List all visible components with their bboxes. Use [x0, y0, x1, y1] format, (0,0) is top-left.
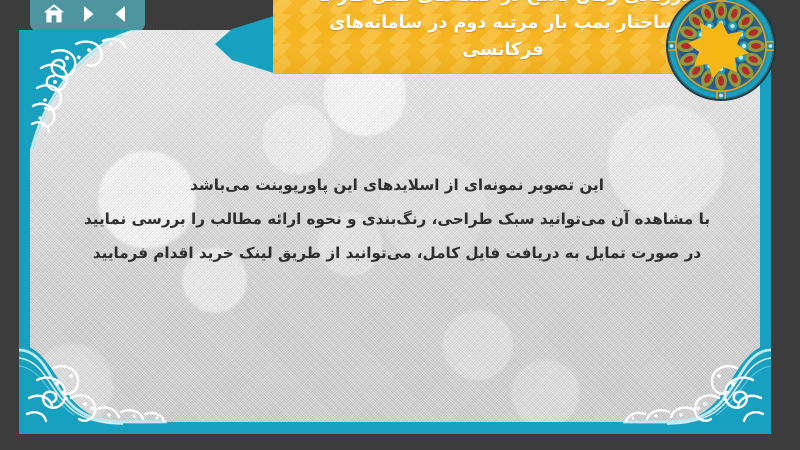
body-line-1: این تصویر نمونه‌ای از اسلایدهای این پاور…: [45, 168, 749, 202]
slide-navigation-bar: [30, 0, 145, 32]
arabesque-corner-bottom-left: [19, 336, 167, 434]
page-title: ارزیابی زمان پاسخ در حلقه‌های قفل فاز با…: [293, 0, 713, 64]
next-slide-button[interactable]: [75, 1, 101, 27]
slide-title-banner: ارزیابی زمان پاسخ در حلقه‌های قفل فاز با…: [215, 0, 727, 90]
body-line-2: با مشاهده آن می‌توانید سبک طراحی، رنگ‌بن…: [45, 202, 749, 236]
persian-mandala-medallion: [665, 0, 777, 102]
triangle-right-icon: [77, 3, 99, 25]
slide-canvas: این تصویر نمونه‌ای از اسلایدهای این پاور…: [19, 30, 771, 434]
body-line-3: در صورت تمایل به دریافت فایل کامل، می‌تو…: [45, 236, 749, 270]
previous-slide-button[interactable]: [108, 1, 134, 27]
triangle-left-icon: [110, 3, 132, 25]
presentation-viewer: این تصویر نمونه‌ای از اسلایدهای این پاور…: [0, 0, 800, 450]
home-icon: [42, 2, 66, 26]
home-button[interactable]: [41, 1, 67, 27]
arabesque-corner-top-left: [19, 30, 147, 150]
arabesque-corner-bottom-right: [623, 336, 771, 434]
slide-body-text: این تصویر نمونه‌ای از اسلایدهای این پاور…: [45, 168, 749, 270]
